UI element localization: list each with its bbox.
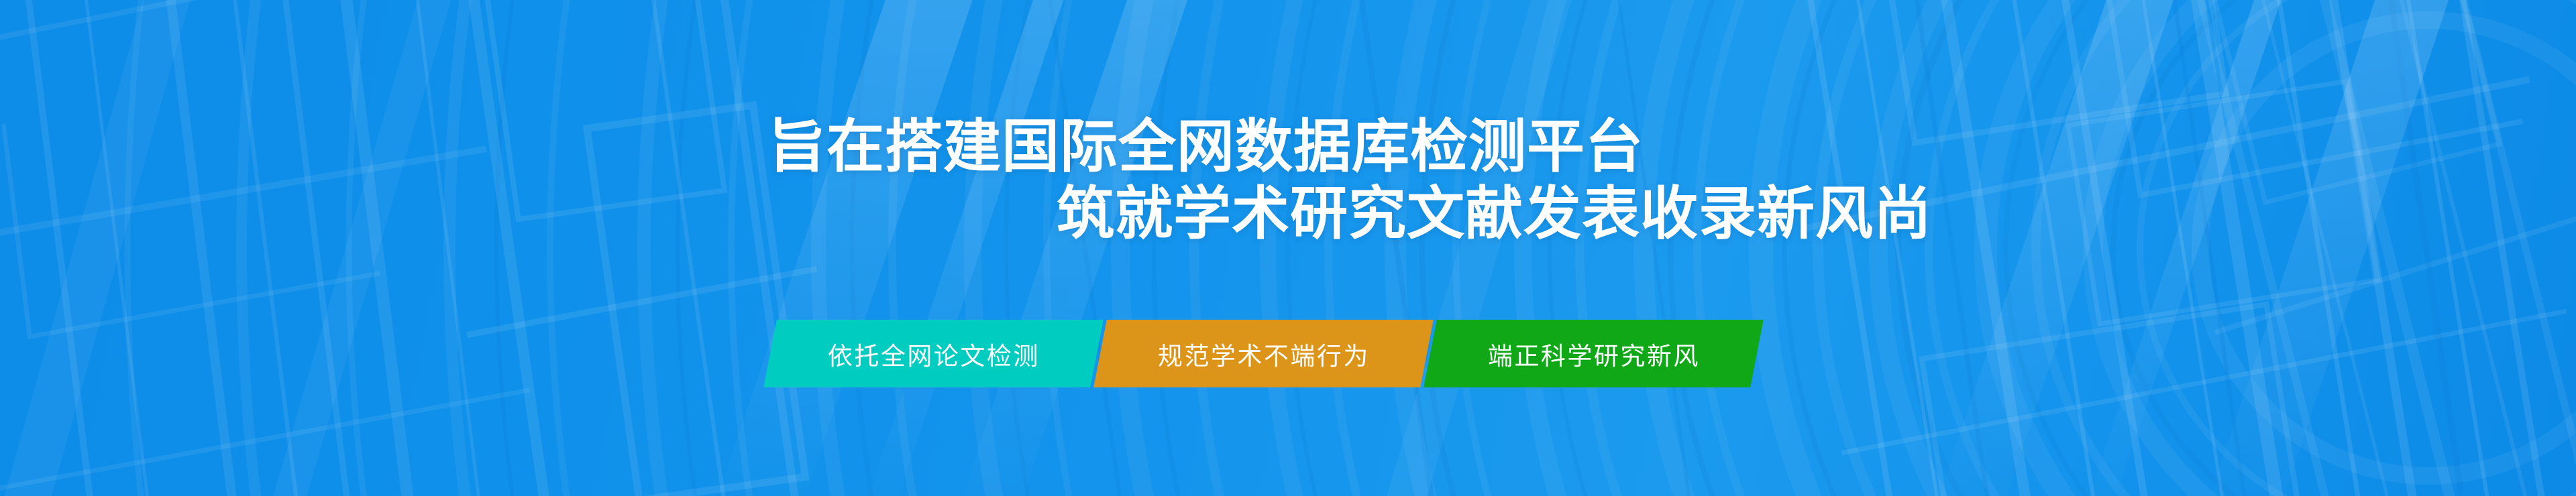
feature-ribbon-research-ethos[interactable]: 端正科学研究新风 [1424, 320, 1764, 387]
concentric-arcs-decoration [0, 0, 2576, 496]
headline-line-2: 筑就学术研究文献发表收录新风尚 [1057, 181, 2576, 248]
light-streaks-decoration [0, 0, 2576, 496]
feature-ribbon-paper-detection[interactable]: 依托全网论文检测 [763, 320, 1104, 387]
headline-block: 旨在搭建国际全网数据库检测平台 筑就学术研究文献发表收录新风尚 [0, 114, 2576, 248]
feature-ribbon-academic-misconduct-label: 规范学术不端行为 [1158, 336, 1370, 372]
feature-ribbon-paper-detection-label: 依托全网论文检测 [828, 336, 1040, 372]
background-gradient [0, 0, 2576, 496]
headline-line-1: 旨在搭建国际全网数据库检测平台 [768, 114, 2576, 181]
feature-ribbon-academic-misconduct[interactable]: 规范学术不端行为 [1093, 320, 1434, 387]
hero-banner: 旨在搭建国际全网数据库检测平台 筑就学术研究文献发表收录新风尚 依托全网论文检测… [0, 0, 2576, 496]
feature-ribbon-group: 依托全网论文检测 规范学术不端行为 端正科学研究新风 [770, 320, 1757, 387]
circuit-grid-decoration [0, 0, 2576, 496]
feature-ribbon-research-ethos-label: 端正科学研究新风 [1488, 336, 1700, 372]
